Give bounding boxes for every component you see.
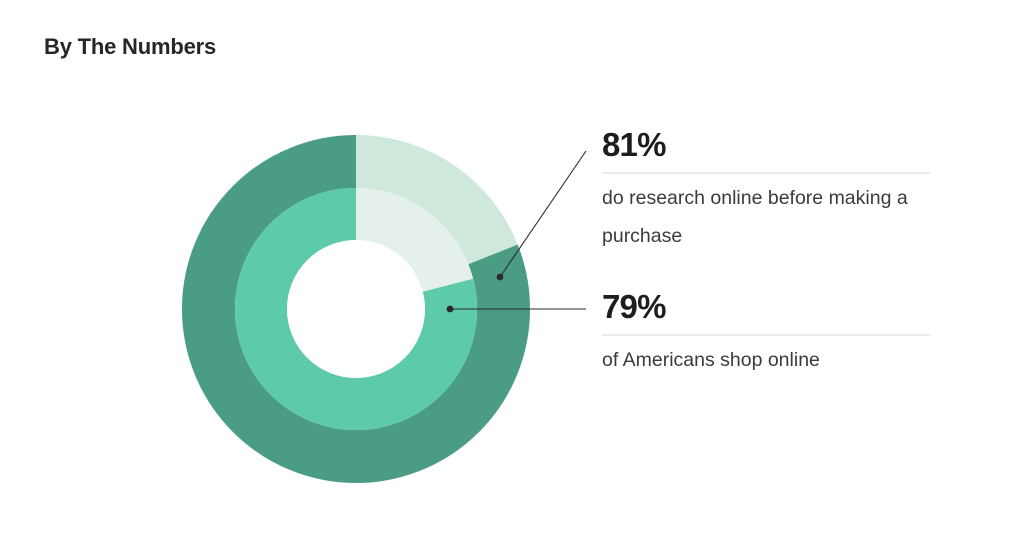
- stat-description-81: do research online before making a purch…: [602, 174, 932, 255]
- donut-chart: [0, 0, 620, 545]
- stat-block-79: 79% of Americans shop online: [602, 288, 932, 380]
- stat-description-79: of Americans shop online: [602, 336, 932, 380]
- stats-panel: 81% do research online before making a p…: [602, 126, 932, 380]
- stat-block-81: 81% do research online before making a p…: [602, 126, 932, 255]
- stat-value-79: 79%: [602, 288, 932, 334]
- donut-chart-svg: [0, 0, 620, 545]
- donut-center-hole: [287, 240, 425, 378]
- stat-value-81: 81%: [602, 126, 932, 172]
